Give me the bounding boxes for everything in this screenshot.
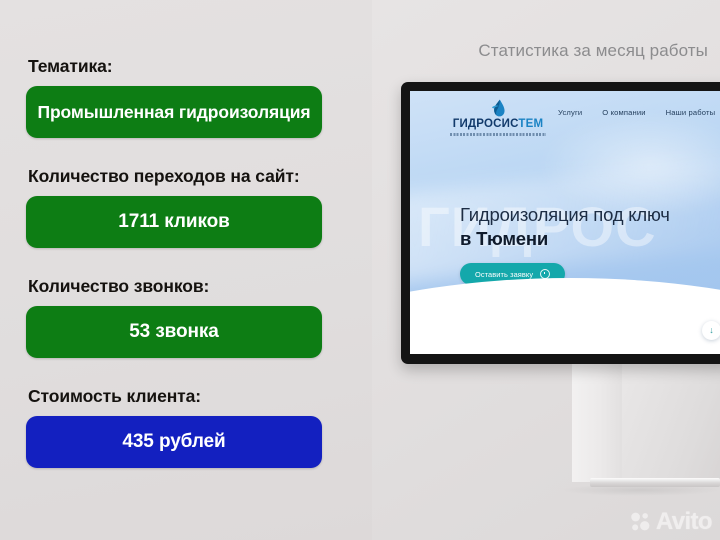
- monitor-screen: ГИДРОС ГИДРОСИСТЕМ Услуги: [410, 91, 720, 354]
- nav-link-services[interactable]: Услуги: [558, 108, 582, 117]
- avito-wordmark: Avito: [656, 510, 712, 534]
- stat-value: 1711 кликов: [118, 211, 229, 233]
- hero-cta-label: Оставить заявку: [475, 270, 533, 279]
- site-logo[interactable]: ГИДРОСИСТЕМ: [450, 99, 546, 136]
- monitor-neck: [572, 364, 622, 482]
- stat-block-topic: Тематика: Промышленная гидроизоляция: [26, 56, 322, 138]
- stat-value: 53 звонка: [129, 321, 219, 343]
- stats-panel: Тематика: Промышленная гидроизоляция Кол…: [0, 0, 372, 540]
- stat-label: Количество звонков:: [28, 276, 322, 297]
- water-drop-icon: [490, 99, 506, 118]
- hero-wave-shape: [410, 278, 720, 354]
- page-title: Статистика за месяц работы: [478, 41, 708, 61]
- stat-label: Тематика:: [28, 56, 322, 77]
- slide-root: Тематика: Промышленная гидроизоляция Кол…: [0, 0, 720, 540]
- monitor-mockup: ГИДРОС ГИДРОСИСТЕМ Услуги: [401, 82, 720, 364]
- logo-wordmark-part2: ТЕМ: [518, 118, 543, 130]
- logo-wordmark: ГИДРОСИСТЕМ: [450, 119, 546, 131]
- hero-headline-line2: в Тюмени: [460, 228, 670, 251]
- avito-watermark: Avito: [630, 510, 712, 534]
- stat-value-box: 435 рублей: [26, 416, 322, 468]
- monitor-base: [590, 478, 720, 487]
- nav-link-about[interactable]: О компании: [602, 108, 645, 117]
- hero-headline-line1: Гидроизоляция под ключ: [460, 204, 670, 227]
- stat-block-cost-per-client: Стоимость клиента: 435 рублей: [26, 386, 322, 468]
- stat-value: Промышленная гидроизоляция: [37, 102, 310, 123]
- avito-logo-icon: [630, 512, 652, 532]
- monitor-back-panel: [622, 364, 720, 482]
- site-nav: Услуги О компании Наши работы: [558, 108, 720, 117]
- stat-value-box: 1711 кликов: [26, 196, 322, 248]
- nav-link-portfolio[interactable]: Наши работы: [666, 108, 716, 117]
- website-hero: ГИДРОС ГИДРОСИСТЕМ Услуги: [410, 91, 720, 354]
- hero-content: Гидроизоляция под ключ в Тюмени Оставить…: [460, 204, 670, 285]
- scroll-down-button[interactable]: ↓: [702, 321, 720, 340]
- arrow-down-icon: ↓: [709, 326, 714, 335]
- logo-tagline-bar: [450, 133, 546, 136]
- website-header: ГИДРОСИСТЕМ Услуги О компании Наши работ…: [410, 91, 720, 141]
- stat-value: 435 рублей: [122, 431, 225, 453]
- stat-block-clicks: Количество переходов на сайт: 1711 клико…: [26, 166, 322, 248]
- stat-label: Количество переходов на сайт:: [28, 166, 322, 187]
- stat-block-calls: Количество звонков: 53 звонка: [26, 276, 322, 358]
- stat-value-box: 53 звонка: [26, 306, 322, 358]
- stat-value-box: Промышленная гидроизоляция: [26, 86, 322, 138]
- stat-label: Стоимость клиента:: [28, 386, 322, 407]
- logo-wordmark-part1: ГИДРОСИС: [453, 118, 519, 130]
